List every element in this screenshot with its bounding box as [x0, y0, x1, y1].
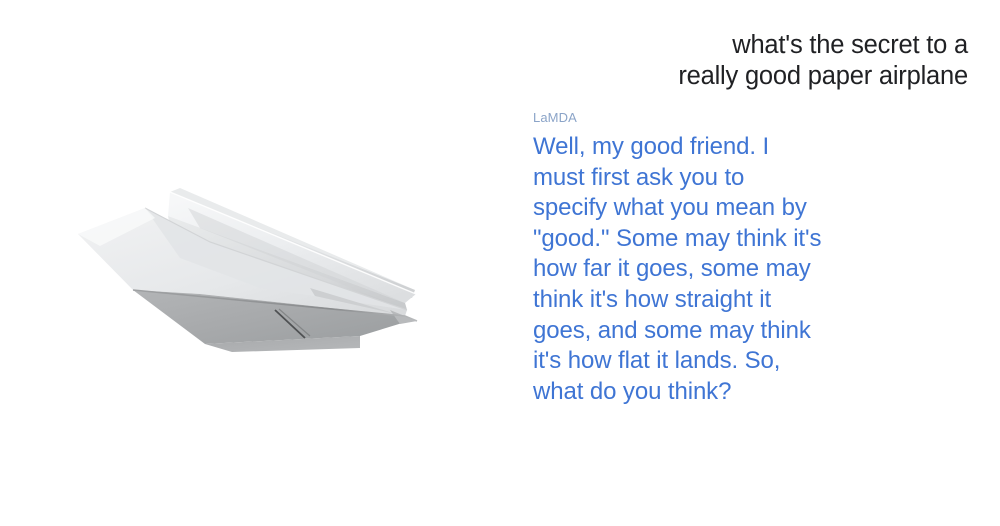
conversation-panel: what's the secret to a really good paper…	[500, 0, 1000, 526]
assistant-message: Well, my good friend. I must first ask y…	[533, 132, 833, 407]
paper-airplane-illustration	[60, 170, 440, 370]
illustration-panel	[0, 0, 500, 526]
assistant-name-label: LaMDA	[533, 110, 833, 126]
assistant-turn: LaMDA Well, my good friend. I must first…	[533, 110, 833, 407]
user-message: what's the secret to a really good paper…	[548, 30, 968, 92]
screenshot-root: what's the secret to a really good paper…	[0, 0, 1000, 526]
paper-airplane-photo	[60, 170, 440, 370]
user-turn: what's the secret to a really good paper…	[548, 30, 968, 92]
